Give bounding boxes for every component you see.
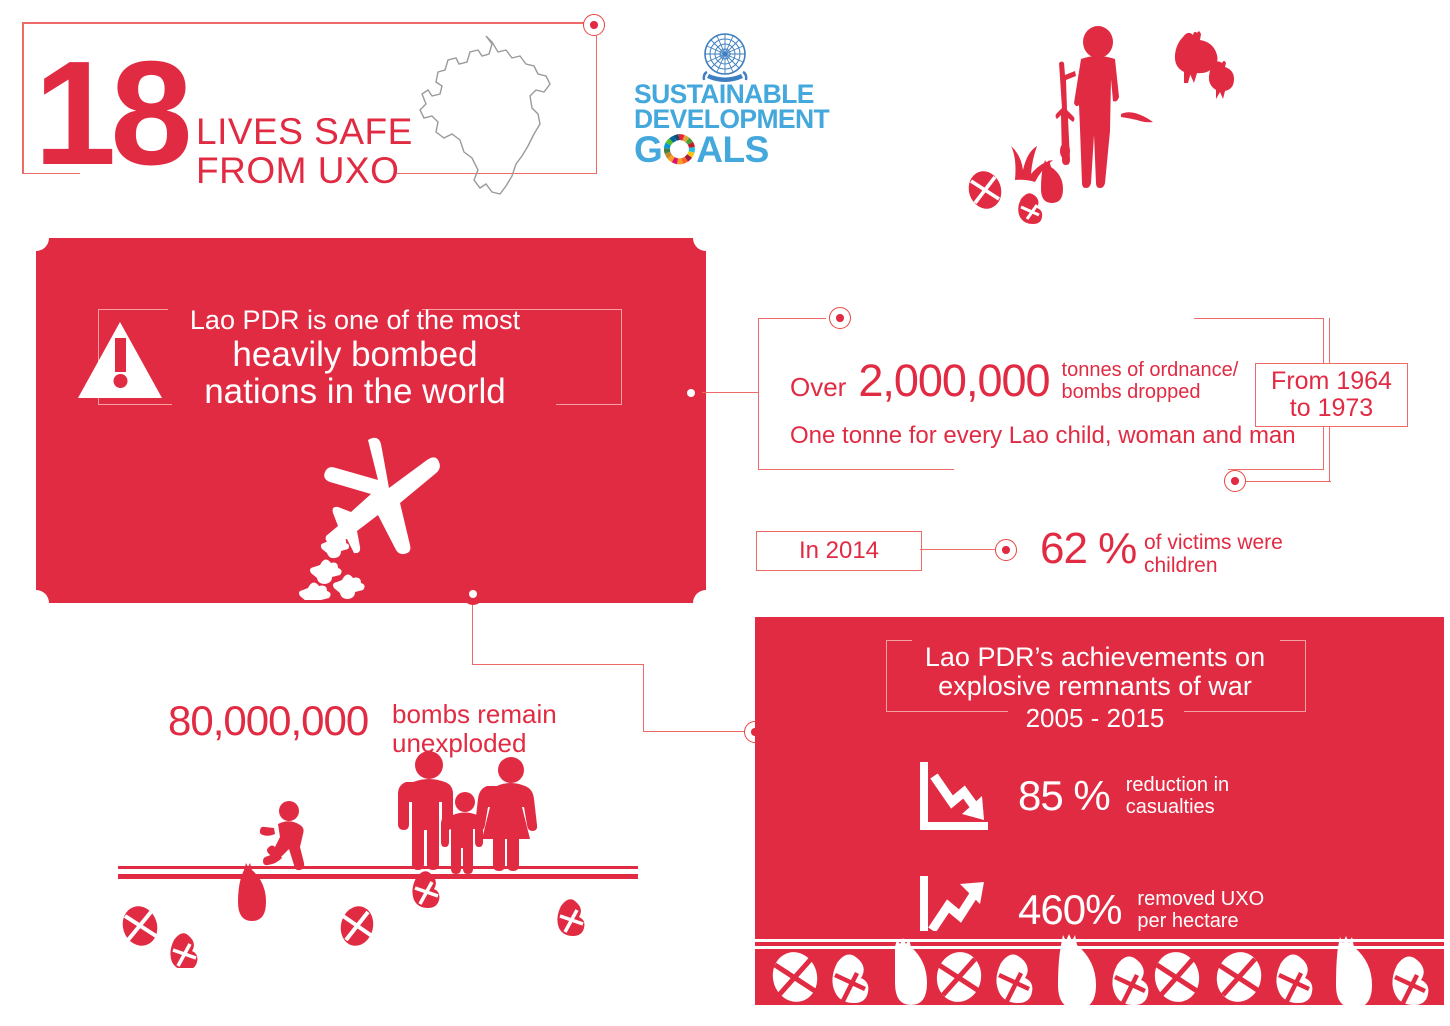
connector-dot-panel-right — [680, 382, 702, 404]
connector-line-years-to-dot — [1246, 481, 1331, 482]
bomb-icon — [1041, 160, 1063, 203]
stats-frame-bottom-left — [758, 469, 954, 470]
achievements-title-line-1: Lao PDR’s achievements on — [860, 643, 1330, 672]
scattered-ordnance — [118, 858, 638, 968]
woman-figure-icon — [475, 757, 537, 871]
connector-dot-stats-top — [829, 307, 851, 329]
achievement-desc-casualties: reduction in casualties — [1126, 774, 1229, 818]
cluster-munition-icon-2 — [1018, 193, 1042, 224]
panel-notch-tr — [693, 225, 719, 251]
achievement-desc-casualties-line-2: casualties — [1126, 796, 1229, 818]
years-line-2: to 1973 — [1271, 395, 1392, 422]
connector-line-down-2 — [643, 664, 644, 732]
chart-down-arrow-icon — [918, 758, 992, 834]
family-figures — [395, 750, 555, 875]
connector-line-years-top — [1329, 318, 1330, 364]
years-line-1: From 1964 — [1271, 368, 1392, 395]
panel-notch-bl — [23, 590, 49, 616]
connector-dot-years — [1224, 470, 1246, 492]
connector-line-panel-to-stats — [702, 392, 758, 393]
submunition-icon-5 — [557, 899, 584, 936]
sdg-goals-als: ALS — [696, 132, 769, 168]
hero-illustration — [955, 15, 1245, 225]
stats-frame-left — [758, 318, 759, 470]
ordnance-desc-line-2: bombs dropped — [1062, 381, 1239, 403]
statement-line-3: nations in the world — [120, 373, 590, 410]
submunition-icon-4 — [412, 871, 439, 908]
unexploded-desc-line-1: bombs remain — [392, 700, 557, 729]
year-2014-box: In 2014 — [756, 531, 922, 571]
panel-notch-br — [693, 590, 719, 616]
page-title-line2: FROM UXO — [196, 151, 413, 190]
un-emblem-icon — [630, 30, 820, 82]
ach-frame-top-right — [1280, 640, 1306, 641]
achievements-title: Lao PDR’s achievements on explosive remn… — [860, 643, 1330, 701]
connector-dot-header — [583, 14, 605, 36]
connector-line-years-bottom — [1329, 425, 1330, 482]
achievement-percent-casualties: 85 % — [1018, 772, 1110, 820]
stats-frame-top-left — [758, 318, 826, 319]
achievement-desc-casualties-line-1: reduction in — [1126, 774, 1229, 796]
submunition-icon-2 — [170, 933, 197, 968]
chick-icon — [1209, 61, 1234, 99]
victims-desc-line-2: children — [1144, 554, 1283, 577]
achievement-percent-uxo: 460% — [1018, 886, 1121, 934]
page-title-number: 18 — [34, 40, 187, 188]
submunition-icon — [118, 902, 162, 951]
panel-notch-tl — [23, 225, 49, 251]
sdg-color-wheel-icon — [662, 133, 696, 167]
bomber-plane-icon — [280, 430, 500, 600]
man-figure-icon — [398, 751, 453, 870]
achievements-years: 2005 - 2015 — [860, 703, 1330, 734]
page-title: LIVES SAFE FROM UXO — [196, 112, 413, 190]
achievement-row-casualties: 85 % reduction in casualties — [918, 758, 1229, 834]
victims-description: of victims were children — [1144, 531, 1283, 577]
connector-line-right-2 — [643, 731, 746, 732]
connector-line-2014 — [920, 549, 997, 550]
connector-line-down-from-panel — [472, 605, 473, 665]
frame-left-border — [22, 22, 24, 174]
unexploded-count: 80,000,000 — [168, 697, 368, 745]
frame-top-border — [22, 22, 597, 24]
ordnance-subtext: One tonne for every Lao child, woman and… — [790, 422, 1296, 450]
achievements-title-line-2: explosive remnants of war — [860, 672, 1330, 701]
page-title-line1: LIVES SAFE — [196, 112, 413, 151]
statement-line-1: Lao PDR is one of the most — [120, 305, 590, 336]
victims-percent: 62 % — [1040, 524, 1136, 574]
achievement-desc-uxo-line-2: per hectare — [1137, 910, 1264, 932]
submunition-icon-3 — [337, 903, 378, 950]
stats-frame-top-right — [1194, 318, 1324, 319]
sdg-logo: SUSTAINABLE DEVELOPMENT G — [630, 30, 820, 178]
connector-line-right-1 — [472, 664, 644, 665]
sdg-line-3: G — [634, 132, 820, 168]
amputee-with-crutch-icon — [1056, 26, 1154, 188]
sdg-goals-g: G — [634, 132, 662, 168]
laos-map-outline — [412, 34, 592, 202]
connector-dot-2014 — [995, 539, 1017, 561]
cluster-munition-icon — [964, 167, 1006, 213]
victims-desc-line-1: of victims were — [1144, 531, 1283, 554]
ordnance-desc-line-1: tonnes of ordnance/ — [1062, 359, 1239, 381]
statement-line-2: heavily bombed — [120, 336, 590, 373]
main-panel-statement: Lao PDR is one of the most heavily bombe… — [120, 305, 590, 410]
achievement-desc-uxo-line-1: removed UXO — [1137, 888, 1264, 910]
buried-bomb-icon — [238, 863, 266, 921]
frame-right-border — [596, 22, 598, 174]
ordnance-description: tonnes of ordnance/ bombs dropped — [1062, 359, 1239, 403]
bomb-icon-strip — [755, 931, 1444, 1005]
ordnance-amount: 2,000,000 — [858, 355, 1049, 407]
stats-frame-bottom-right — [1228, 469, 1324, 470]
ordnance-amount-row: Over 2,000,000 tonnes of ordnance/ bombs… — [790, 355, 1238, 407]
ordnance-over-label: Over — [790, 372, 846, 403]
achievement-desc-uxo: removed UXO per hectare — [1137, 888, 1264, 932]
ach-frame-top-left — [886, 640, 912, 641]
connector-dot-panel-bottom — [462, 583, 484, 605]
warn-frame-right — [621, 309, 622, 405]
years-box: From 1964 to 1973 — [1255, 363, 1408, 427]
